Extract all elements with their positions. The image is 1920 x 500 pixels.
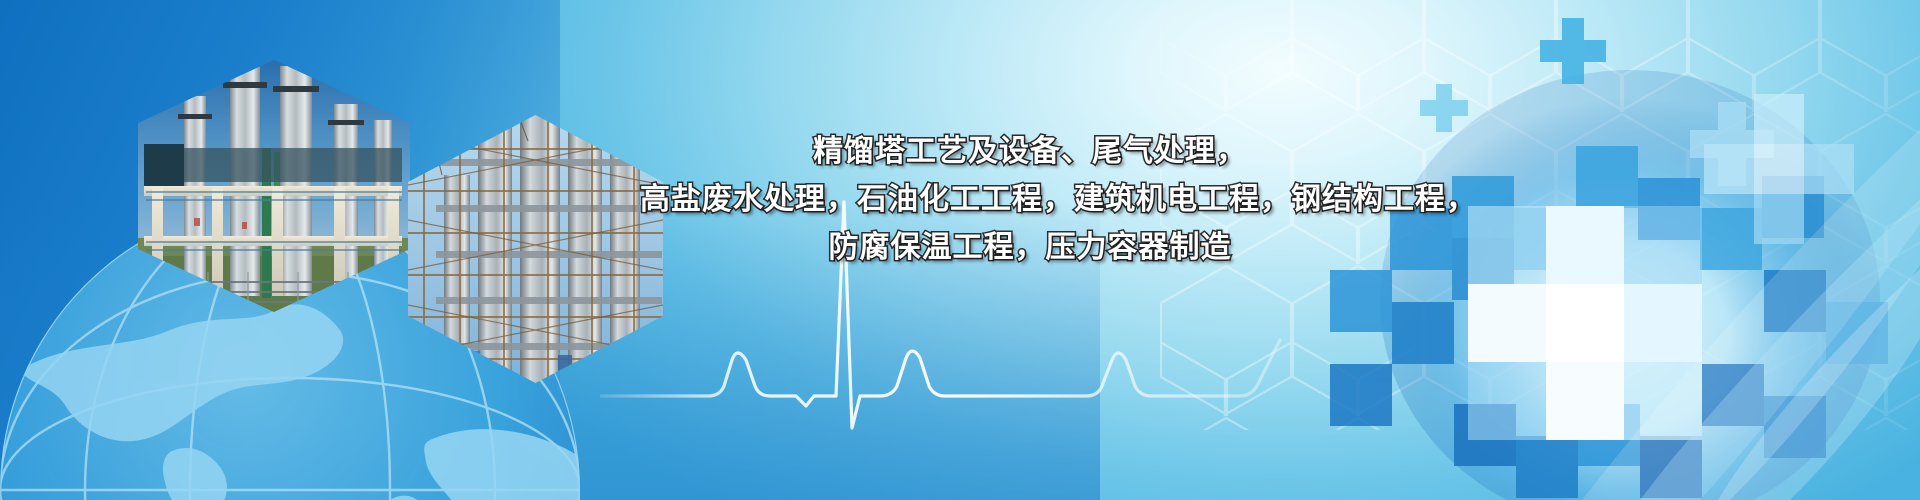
headline-line-1: 精馏塔工艺及设备、尾气处理， — [640, 128, 1420, 176]
headline-line-3: 防腐保温工程，压力容器制造 — [640, 224, 1420, 272]
headline-block: 精馏塔工艺及设备、尾气处理， 高盐废水处理，石油化工工程，建筑机电工程，钢结构工… — [640, 128, 1420, 272]
promo-banner: 精馏塔工艺及设备、尾气处理， 高盐废水处理，石油化工工程，建筑机电工程，钢结构工… — [0, 0, 1920, 500]
headline-line-2: 高盐废水处理，石油化工工程，建筑机电工程，钢结构工程， — [640, 176, 1420, 224]
